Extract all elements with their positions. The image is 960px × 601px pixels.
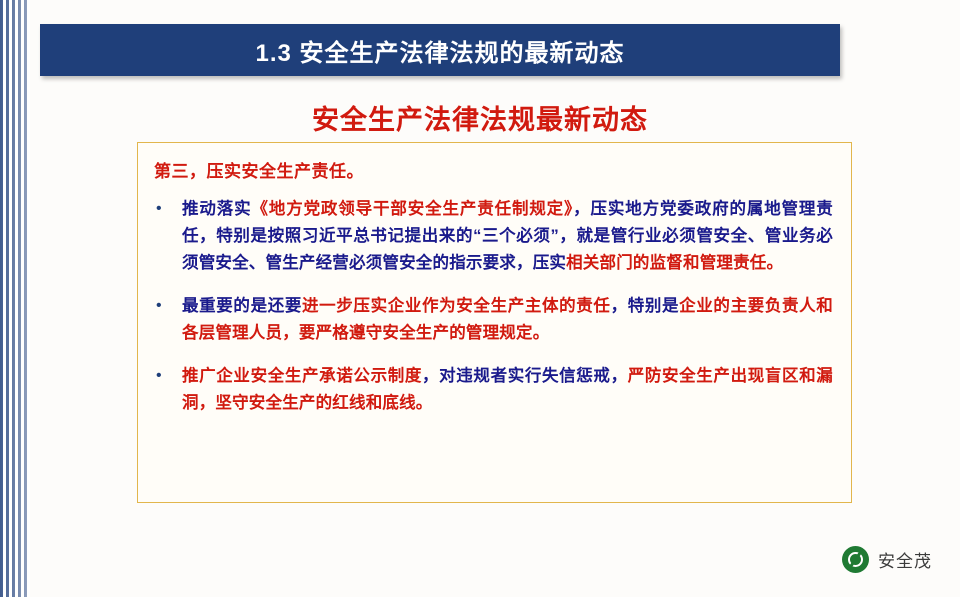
bullet-text-2: 最重要的是还要进一步压实企业作为安全生产主体的责任，特别是企业的主要负责人和各层… <box>182 293 833 347</box>
bullet-marker-icon: • <box>152 196 182 222</box>
list-item: • 最重要的是还要进一步压实企业作为安全生产主体的责任，特别是企业的主要负责人和… <box>152 293 833 347</box>
bullet-marker-icon: • <box>152 363 182 389</box>
bullet-2-segment-3: ，特别是 <box>611 297 680 315</box>
list-item: • 推广企业安全生产承诺公示制度，对违规者实行失信惩戒，严防安全生产出现盲区和漏… <box>152 363 833 417</box>
bullet-3-segment-1: 推广企业安全生产承诺公示制度 <box>182 367 422 385</box>
bullet-1-segment-2: 《地方党政领导干部安全生产责任制规定》 <box>251 200 573 218</box>
bullet-1-segment-1: 推动落实 <box>182 200 251 218</box>
bullet-text-1: 推动落实《地方党政领导干部安全生产责任制规定》，压实地方党委政府的属地管理责任，… <box>182 196 833 277</box>
bullet-1-segment-4: 相关部门的监督和管理责任。 <box>566 254 783 272</box>
page-title: 1.3 安全生产法律法规的最新动态 <box>255 33 624 68</box>
slide: 1.3 安全生产法律法规的最新动态 安全生产法律法规最新动态 第三，压实安全生产… <box>0 0 960 601</box>
bullet-text-3: 推广企业安全生产承诺公示制度，对违规者实行失信惩戒，严防安全生产出现盲区和漏洞，… <box>182 363 833 417</box>
footer-logo: 安全茂 <box>842 546 932 573</box>
footer-logo-label: 安全茂 <box>878 547 932 572</box>
slide-title-bar: 1.3 安全生产法律法规的最新动态 <box>40 24 840 76</box>
bullet-marker-icon: • <box>152 293 182 319</box>
slide-subtitle: 安全生产法律法规最新动态 <box>0 98 960 137</box>
bullet-list: • 推动落实《地方党政领导干部安全生产责任制规定》，压实地方党委政府的属地管理责… <box>152 196 833 417</box>
wechat-account-icon <box>842 546 869 573</box>
content-lead-text: 第三，压实安全生产责任。 <box>154 157 833 182</box>
bullet-2-segment-1: 最重要的是还要 <box>182 297 302 315</box>
list-item: • 推动落实《地方党政领导干部安全生产责任制规定》，压实地方党委政府的属地管理责… <box>152 196 833 277</box>
bullet-2-segment-2: 进一步压实企业作为安全生产主体的责任 <box>302 297 611 315</box>
bullet-3-segment-2: ，对违规者实行失信惩戒， <box>422 367 628 385</box>
content-box: 第三，压实安全生产责任。 • 推动落实《地方党政领导干部安全生产责任制规定》，压… <box>137 142 852 503</box>
left-stripe-fade <box>0 0 30 601</box>
bottom-edge <box>0 597 960 601</box>
